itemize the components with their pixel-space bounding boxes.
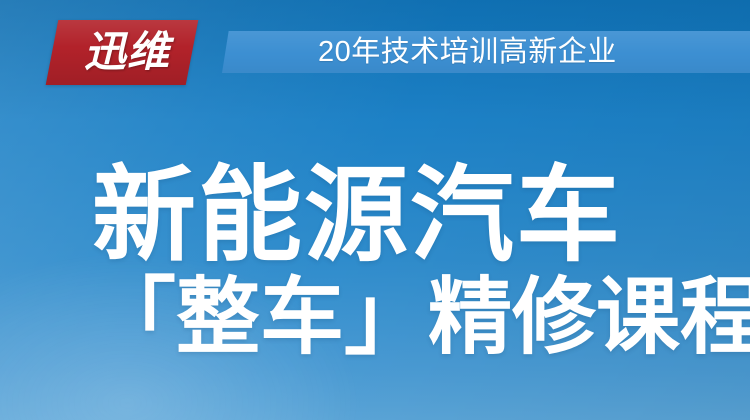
main-title-line-1: 新能源汽车 bbox=[92, 160, 692, 272]
promo-poster: 20年技术培训高新企业 迅维 新能源汽车 「整车」精修课程 bbox=[0, 0, 750, 420]
main-title-line-2: 「整车」精修课程 bbox=[92, 268, 692, 366]
tagline-text: 20年技术培训高新企业 bbox=[318, 33, 617, 71]
header-bar: 20年技术培训高新企业 迅维 bbox=[0, 0, 750, 104]
brand-logo-text[interactable]: 迅维 bbox=[62, 22, 192, 82]
main-title-block: 新能源汽车 「整车」精修课程 bbox=[92, 160, 692, 366]
